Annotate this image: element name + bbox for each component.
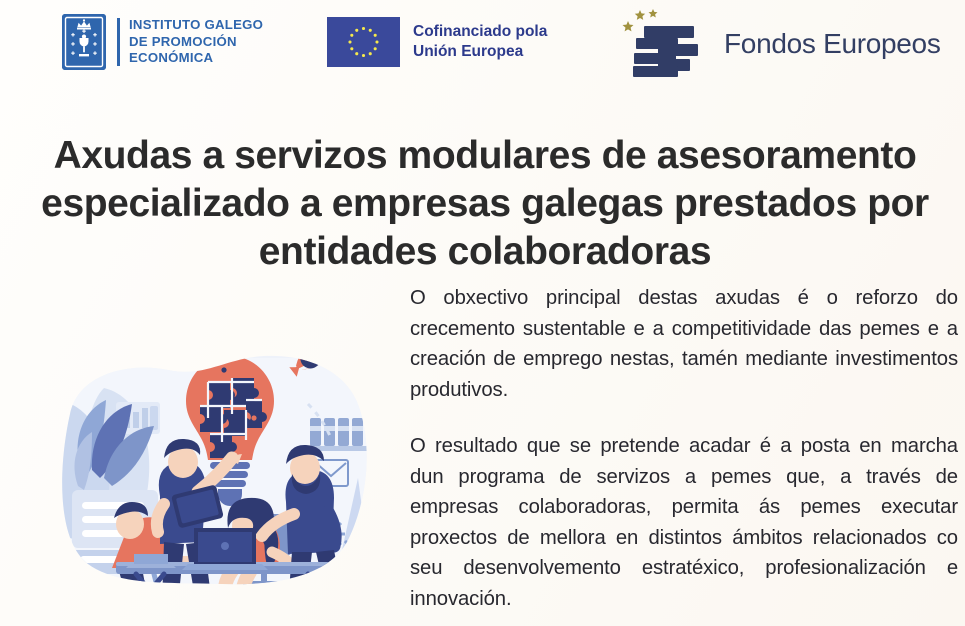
logo-fondos-europeos: Fondos Europeos (620, 8, 941, 80)
main-text-column: O obxectivo principal destas axudas é o … (410, 283, 958, 614)
paragraph-result: O resultado que se pretende acadar é a p… (410, 431, 958, 614)
eu-flag-icon (327, 17, 400, 67)
team-brainstorming-illustration (8, 318, 398, 618)
logo-igape: INSTITUTO GALEGO DE PROMOCIÓN ECONÓMICA (62, 14, 263, 70)
logo-igape-label: INSTITUTO GALEGO DE PROMOCIÓN ECONÓMICA (129, 17, 263, 67)
logo-divider (117, 18, 120, 66)
poster-page: INSTITUTO GALEGO DE PROMOCIÓN ECONÓMICA (0, 0, 965, 626)
logo-fondos-label: Fondos Europeos (724, 28, 941, 60)
paragraph-objective: O obxectivo principal destas axudas é o … (410, 283, 958, 405)
logo-eu-label: Cofinanciado pola Unión Europea (413, 22, 547, 62)
fondos-europeos-flag-icon (620, 8, 712, 80)
page-title: Axudas a servizos modulares de asesorame… (40, 132, 930, 276)
logo-european-union: Cofinanciado pola Unión Europea (327, 17, 547, 67)
logo-bar: INSTITUTO GALEGO DE PROMOCIÓN ECONÓMICA (0, 0, 965, 92)
galicia-coat-of-arms-icon (62, 14, 106, 70)
